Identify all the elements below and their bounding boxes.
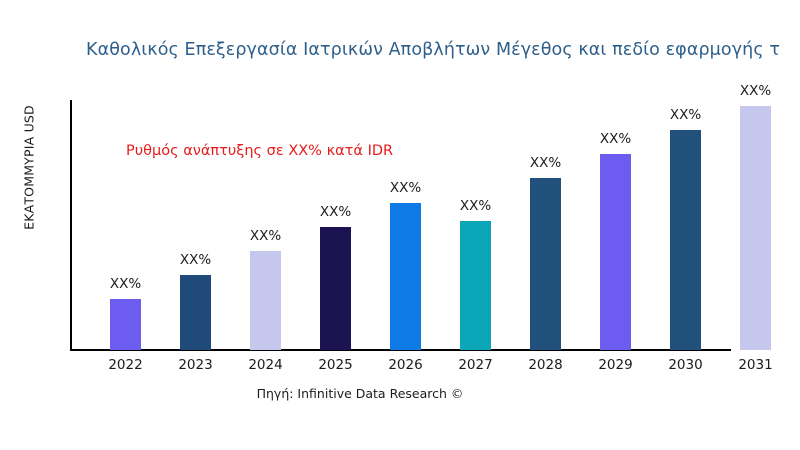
bar-2029 (600, 154, 631, 350)
bar-value-label-2027: XX% (446, 198, 505, 214)
bar-value-label-2030: XX% (656, 107, 715, 123)
x-tick-label-2024: 2024 (236, 357, 295, 373)
x-tick-label-2030: 2030 (656, 357, 715, 373)
bar-2022 (110, 299, 141, 350)
x-tick-label-2031: 2031 (726, 357, 785, 373)
plot-area: XX%2022XX%2023XX%2024XX%2025XX%2026XX%20… (0, 0, 800, 450)
x-tick-label-2022: 2022 (96, 357, 155, 373)
bar-2031 (740, 106, 771, 350)
bar-value-label-2024: XX% (236, 228, 295, 244)
x-tick-label-2025: 2025 (306, 357, 365, 373)
bar-2028 (530, 178, 561, 350)
bar-2030 (670, 130, 701, 350)
x-tick-label-2028: 2028 (516, 357, 575, 373)
bar-value-label-2029: XX% (586, 131, 645, 147)
bar-value-label-2022: XX% (96, 276, 155, 292)
x-tick-label-2023: 2023 (166, 357, 225, 373)
bar-value-label-2025: XX% (306, 204, 365, 220)
x-tick-label-2026: 2026 (376, 357, 435, 373)
bar-2027 (460, 221, 491, 350)
bar-value-label-2031: XX% (726, 83, 785, 99)
bar-2026 (390, 203, 421, 350)
bar-value-label-2026: XX% (376, 180, 435, 196)
chart-container: Καθολικός Επεξεργασία Ιατρικών Αποβλήτων… (0, 0, 800, 450)
bar-value-label-2028: XX% (516, 155, 575, 171)
bar-2025 (320, 227, 351, 350)
x-tick-label-2029: 2029 (586, 357, 645, 373)
bar-2024 (250, 251, 281, 350)
bar-2023 (180, 275, 211, 350)
x-tick-label-2027: 2027 (446, 357, 505, 373)
bar-value-label-2023: XX% (166, 252, 225, 268)
source-note: Πηγή: Infinitive Data Research © (0, 386, 720, 401)
